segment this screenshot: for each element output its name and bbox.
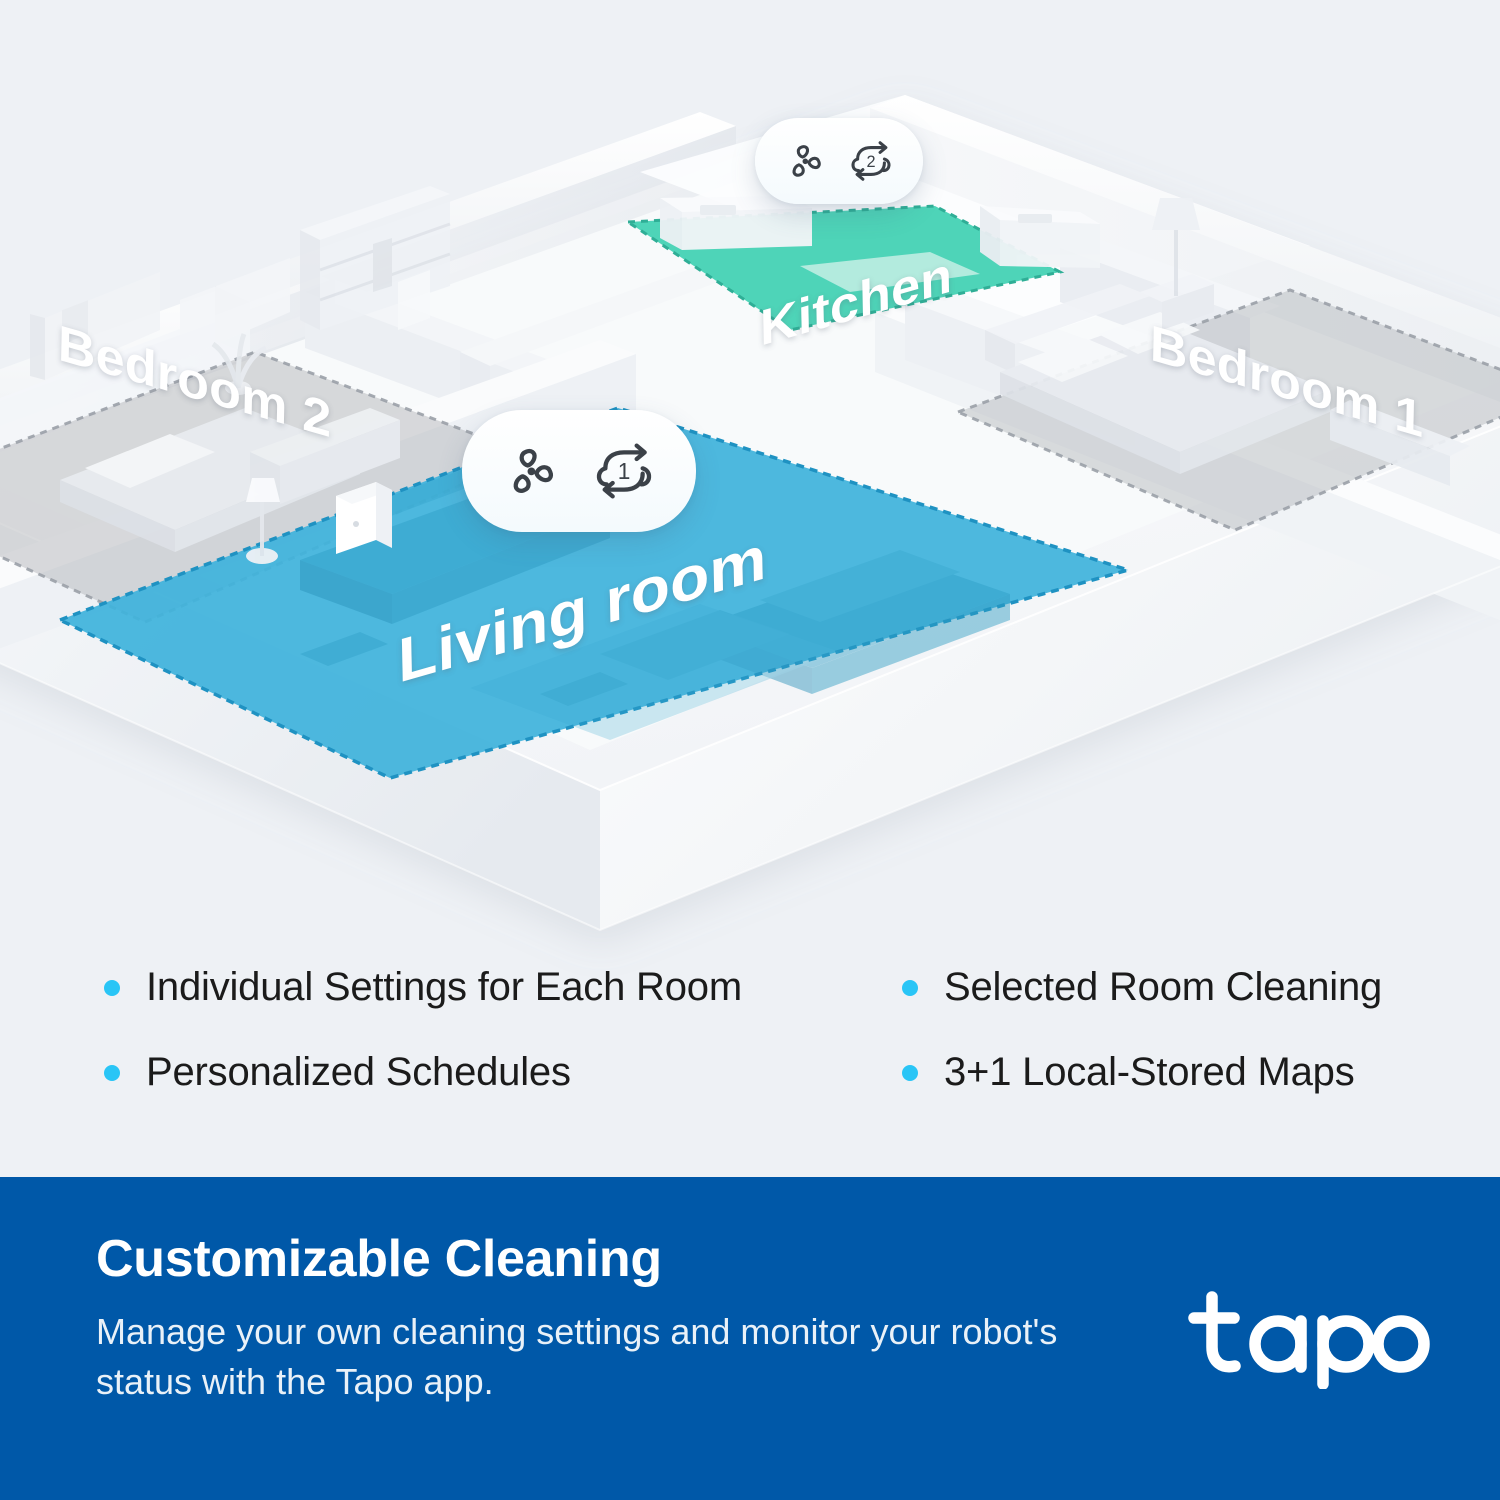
bullet-dot-icon — [902, 980, 918, 996]
banner-title: Customizable Cleaning — [96, 1229, 662, 1289]
repeat-count-livingroom: 1 — [618, 458, 631, 484]
bullet-dot-icon — [902, 1065, 918, 1081]
room-settings-badge-kitchen[interactable]: 2 — [755, 118, 923, 204]
feature-item: Individual Settings for Each Room — [104, 965, 742, 1010]
repeat-icon: 2 — [846, 138, 896, 184]
bullet-dot-icon — [104, 1065, 120, 1081]
repeat-count-kitchen: 2 — [866, 153, 875, 171]
room-settings-badge-livingroom[interactable]: 1 — [462, 410, 696, 532]
fan-icon — [782, 138, 828, 184]
feature-label: Selected Room Cleaning — [944, 965, 1382, 1010]
feature-item: 3+1 Local-Stored Maps — [902, 1050, 1355, 1095]
feature-label: Individual Settings for Each Room — [146, 965, 742, 1010]
repeat-icon: 1 — [589, 439, 659, 503]
feature-label: Personalized Schedules — [146, 1050, 571, 1095]
furniture-hall — [300, 186, 450, 330]
feature-item: Selected Room Cleaning — [902, 965, 1382, 1010]
tapo-logo: tapo — [1186, 1289, 1438, 1389]
bullet-dot-icon — [104, 980, 120, 996]
feature-list: Individual Settings for Each Room Person… — [0, 940, 1500, 1140]
banner-subtitle: Manage your own cleaning settings and mo… — [96, 1307, 1096, 1406]
bottom-banner: Customizable Cleaning Manage your own cl… — [0, 1177, 1500, 1500]
feature-label: 3+1 Local-Stored Maps — [944, 1050, 1355, 1095]
device-lamp-bedroom1 — [1162, 331, 1182, 341]
fan-icon — [499, 439, 563, 503]
feature-item: Personalized Schedules — [104, 1050, 571, 1095]
